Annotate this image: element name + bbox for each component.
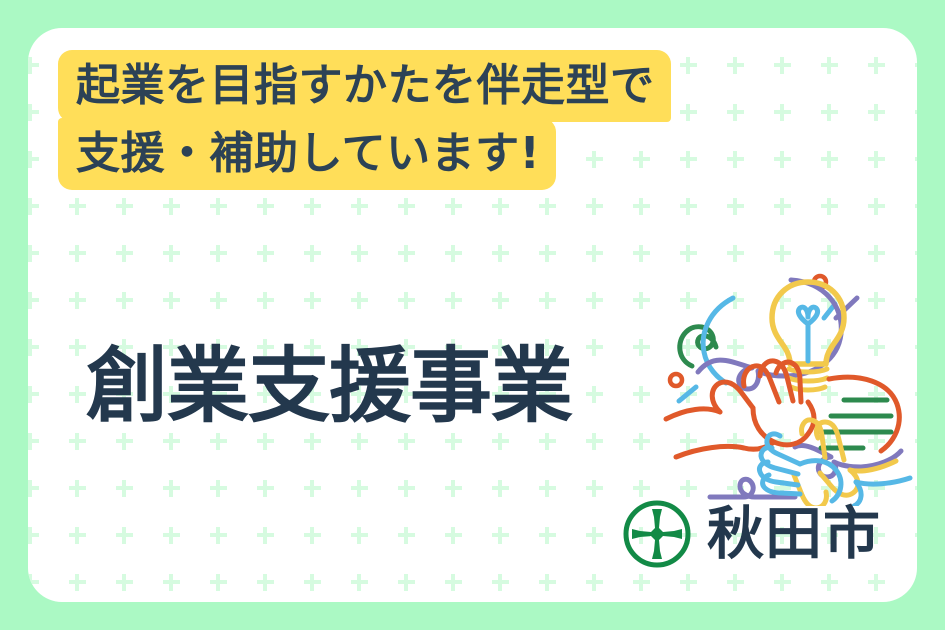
grid-cross-mark — [404, 198, 408, 215]
grid-cross-mark — [310, 480, 314, 497]
grid-cross-mark — [545, 480, 549, 497]
grid-cross-mark — [686, 57, 690, 74]
grid-cross-mark — [122, 480, 126, 497]
grid-cross-mark — [122, 198, 126, 215]
grid-cross-mark — [310, 198, 314, 215]
grid-cross-mark — [122, 245, 126, 262]
grid-cross-mark — [216, 433, 220, 450]
grid-cross-mark — [827, 104, 831, 121]
grid-cross-mark — [28, 57, 32, 74]
grid-cross-mark — [28, 480, 32, 497]
grid-cross-mark — [733, 57, 737, 74]
grid-cross-mark — [545, 292, 549, 309]
grid-cross-mark — [75, 198, 79, 215]
poster-root: 起業を目指すかたを伴走型で 支援・補助しています! 創業支援事業 — [0, 0, 945, 630]
grid-cross-mark — [451, 245, 455, 262]
grid-cross-mark — [75, 339, 79, 356]
grid-cross-mark — [915, 533, 918, 537]
grid-cross-mark — [169, 245, 173, 262]
grid-cross-mark — [451, 198, 455, 215]
grid-cross-mark — [451, 574, 455, 591]
grid-cross-mark — [75, 527, 79, 544]
grid-cross-mark — [310, 245, 314, 262]
grid-cross-mark — [592, 433, 596, 450]
grid-cross-mark — [915, 251, 918, 255]
headline-line-2: 支援・補助しています! — [58, 118, 556, 190]
grid-cross-mark — [733, 104, 737, 121]
grid-cross-mark — [545, 433, 549, 450]
grid-cross-mark — [263, 292, 267, 309]
grid-cross-mark — [827, 574, 831, 591]
grid-cross-mark — [915, 157, 918, 161]
grid-cross-mark — [28, 339, 32, 356]
grid-cross-mark — [451, 433, 455, 450]
grid-cross-mark — [827, 198, 831, 215]
grid-cross-mark — [874, 104, 878, 121]
grid-cross-mark — [915, 204, 918, 208]
grid-cross-mark — [780, 151, 784, 168]
grid-cross-mark — [216, 574, 220, 591]
grid-cross-mark — [28, 198, 32, 215]
grid-cross-mark — [592, 198, 596, 215]
grid-cross-mark — [75, 480, 79, 497]
grid-cross-mark — [451, 480, 455, 497]
grid-cross-mark — [545, 527, 549, 544]
grid-cross-mark — [122, 527, 126, 544]
collaboration-illustration — [648, 256, 917, 506]
grid-cross-mark — [780, 104, 784, 121]
grid-cross-mark — [733, 151, 737, 168]
grid-cross-mark — [28, 433, 32, 450]
grid-cross-mark — [592, 292, 596, 309]
illustration-svg — [648, 256, 917, 506]
headline: 起業を目指すかたを伴走型で 支援・補助しています! — [58, 50, 671, 190]
grid-cross-mark — [75, 386, 79, 403]
grid-cross-mark — [639, 480, 643, 497]
grid-cross-mark — [216, 198, 220, 215]
grid-cross-mark — [310, 527, 314, 544]
grid-cross-mark — [404, 245, 408, 262]
grid-cross-mark — [545, 245, 549, 262]
grid-cross-mark — [733, 198, 737, 215]
grid-cross-mark — [122, 292, 126, 309]
grid-cross-mark — [498, 245, 502, 262]
grid-cross-mark — [404, 574, 408, 591]
grid-cross-mark — [592, 480, 596, 497]
grid-cross-mark — [357, 198, 361, 215]
grid-cross-mark — [874, 57, 878, 74]
grid-cross-mark — [780, 574, 784, 591]
grid-cross-mark — [169, 480, 173, 497]
grid-cross-mark — [592, 339, 596, 356]
grid-cross-mark — [780, 57, 784, 74]
grid-cross-mark — [216, 245, 220, 262]
grid-cross-mark — [310, 433, 314, 450]
grid-cross-mark — [639, 198, 643, 215]
grid-cross-mark — [122, 433, 126, 450]
grid-cross-mark — [357, 574, 361, 591]
poster-card: 起業を目指すかたを伴走型で 支援・補助しています! 創業支援事業 — [28, 28, 917, 602]
grid-cross-mark — [874, 574, 878, 591]
grid-cross-mark — [216, 292, 220, 309]
grid-cross-mark — [75, 433, 79, 450]
grid-cross-mark — [404, 433, 408, 450]
grid-cross-mark — [169, 433, 173, 450]
grid-cross-mark — [498, 574, 502, 591]
grid-cross-mark — [686, 104, 690, 121]
grid-cross-mark — [827, 57, 831, 74]
grid-cross-mark — [75, 574, 79, 591]
grid-cross-mark — [915, 580, 918, 584]
grid-cross-mark — [169, 527, 173, 544]
grid-cross-mark — [827, 151, 831, 168]
grid-cross-mark — [498, 198, 502, 215]
grid-cross-mark — [404, 527, 408, 544]
grid-cross-mark — [28, 245, 32, 262]
grid-cross-mark — [169, 198, 173, 215]
grid-cross-mark — [686, 151, 690, 168]
grid-cross-mark — [780, 198, 784, 215]
grid-cross-mark — [639, 574, 643, 591]
grid-cross-mark — [310, 292, 314, 309]
grid-cross-mark — [169, 574, 173, 591]
grid-cross-mark — [28, 386, 32, 403]
grid-cross-mark — [592, 574, 596, 591]
grid-cross-mark — [28, 527, 32, 544]
grid-cross-mark — [639, 433, 643, 450]
grid-cross-mark — [216, 480, 220, 497]
grid-cross-mark — [639, 386, 643, 403]
grid-cross-mark — [263, 198, 267, 215]
grid-cross-mark — [263, 480, 267, 497]
grid-cross-mark — [639, 292, 643, 309]
grid-cross-mark — [357, 527, 361, 544]
grid-cross-mark — [545, 198, 549, 215]
grid-cross-mark — [592, 527, 596, 544]
grid-cross-mark — [404, 480, 408, 497]
grid-cross-mark — [357, 480, 361, 497]
page-title: 創業支援事業 — [86, 346, 572, 428]
grid-cross-mark — [592, 386, 596, 403]
grid-cross-mark — [28, 151, 32, 168]
grid-cross-mark — [451, 292, 455, 309]
grid-cross-mark — [915, 63, 918, 67]
grid-cross-mark — [686, 198, 690, 215]
grid-cross-mark — [498, 433, 502, 450]
akita-city-emblem-icon — [621, 498, 693, 570]
grid-cross-mark — [451, 527, 455, 544]
grid-cross-mark — [28, 574, 32, 591]
grid-cross-mark — [263, 527, 267, 544]
city-name-label: 秋田市 — [707, 506, 881, 563]
grid-cross-mark — [28, 292, 32, 309]
grid-cross-mark — [874, 151, 878, 168]
grid-cross-mark — [404, 292, 408, 309]
grid-cross-mark — [357, 245, 361, 262]
grid-cross-mark — [310, 574, 314, 591]
grid-cross-mark — [122, 574, 126, 591]
grid-cross-mark — [28, 104, 32, 121]
grid-cross-mark — [498, 292, 502, 309]
headline-line-1: 起業を目指すかたを伴走型で — [58, 50, 671, 122]
grid-cross-mark — [263, 245, 267, 262]
speech-bubble-left-blue — [703, 298, 733, 383]
grid-cross-mark — [874, 198, 878, 215]
grid-cross-mark — [263, 433, 267, 450]
city-logo-lockup: 秋田市 — [621, 498, 881, 570]
grid-cross-mark — [915, 110, 918, 114]
grid-cross-mark — [498, 480, 502, 497]
grid-cross-mark — [75, 245, 79, 262]
grid-cross-mark — [75, 292, 79, 309]
grid-cross-mark — [686, 574, 690, 591]
grid-cross-mark — [169, 292, 173, 309]
grid-cross-mark — [263, 574, 267, 591]
grid-cross-mark — [216, 527, 220, 544]
grid-cross-mark — [639, 339, 643, 356]
grid-cross-mark — [498, 527, 502, 544]
grid-cross-mark — [733, 574, 737, 591]
grid-cross-mark — [639, 245, 643, 262]
grid-cross-mark — [545, 574, 549, 591]
grid-cross-mark — [357, 433, 361, 450]
grid-cross-mark — [592, 245, 596, 262]
grid-cross-mark — [357, 292, 361, 309]
